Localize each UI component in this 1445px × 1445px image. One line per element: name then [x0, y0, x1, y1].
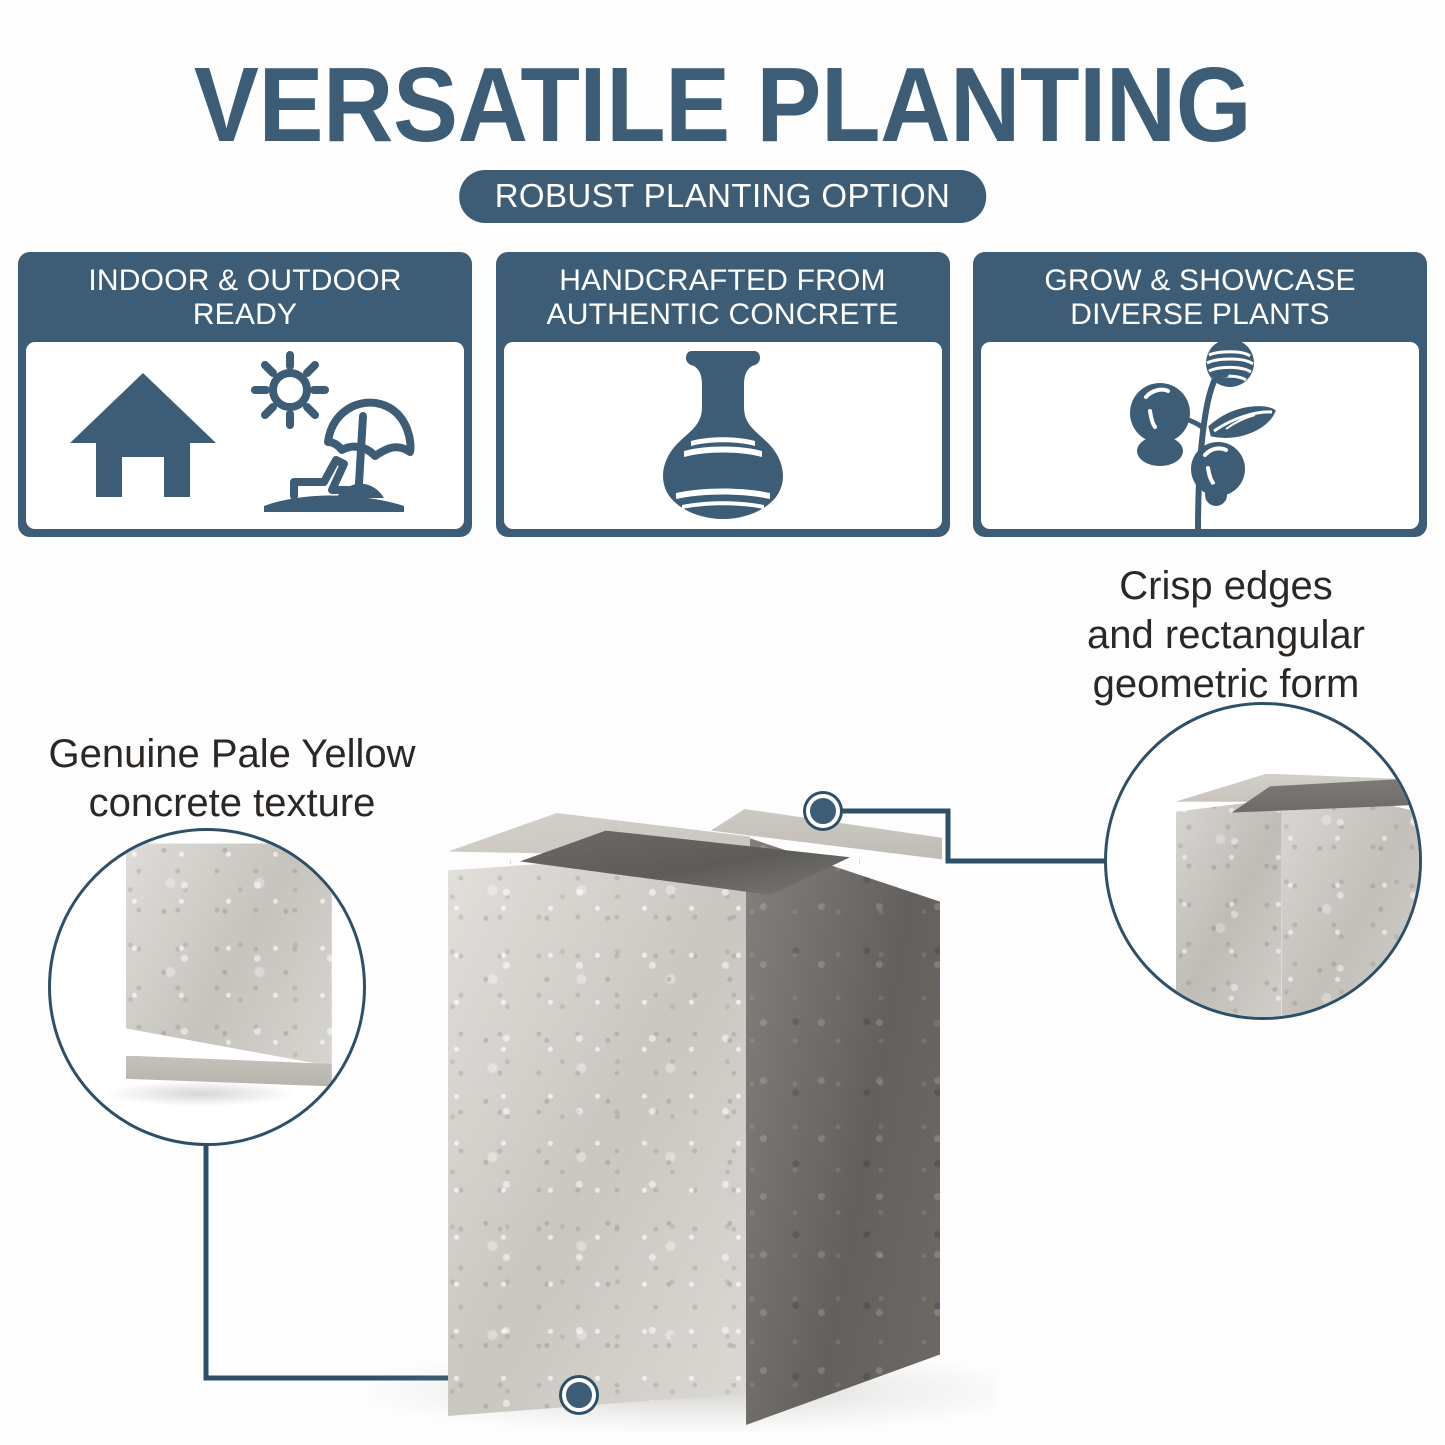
rim-right-face [1282, 780, 1422, 1017]
feature-card-header: GROW & SHOWCASE DIVERSE PLANTS [1036, 252, 1363, 342]
callout-label-crisp-edges: Crisp edges and rectangular geometric fo… [1020, 562, 1432, 708]
planter-side-face [746, 837, 940, 1425]
subtitle-badge: ROBUST PLANTING OPTION [459, 170, 987, 223]
rim-left-face [1176, 799, 1282, 1017]
concrete-surface-detail [126, 843, 332, 1080]
planter-front-face [448, 850, 748, 1416]
house-icon [68, 365, 218, 505]
feature-card-row: INDOOR & OUTDOOR READY [18, 252, 1427, 537]
detail-zoom-image [51, 831, 363, 1143]
base-shadow [107, 1081, 294, 1106]
hotspot-marker-bottom-edge[interactable] [562, 1378, 596, 1412]
feature-card-header: HANDCRAFTED FROM AUTHENTIC CONCRETE [539, 252, 907, 342]
vase-icon [648, 345, 798, 525]
detail-zoom-image [1107, 705, 1419, 1017]
hotspot-marker-top-edge[interactable] [806, 794, 840, 828]
feature-card-body [504, 342, 942, 529]
product-image-planter [360, 795, 1000, 1445]
feature-card-body [981, 342, 1419, 529]
berry-sprig-icon [1110, 342, 1290, 529]
feature-card-diverse-plants: GROW & SHOWCASE DIVERSE PLANTS [973, 252, 1427, 537]
detail-zoom-crisp-edges [1104, 702, 1422, 1020]
page-title: VERSATILE PLANTING [58, 52, 1387, 158]
infographic-canvas: VERSATILE PLANTING ROBUST PLANTING OPTIO… [0, 0, 1445, 1445]
feature-card-header: INDOOR & OUTDOOR READY [80, 252, 409, 342]
feature-card-indoor-outdoor: INDOOR & OUTDOOR READY [18, 252, 472, 537]
feature-card-body [26, 342, 464, 529]
feature-card-handcrafted-concrete: HANDCRAFTED FROM AUTHENTIC CONCRETE [496, 252, 950, 537]
detail-zoom-concrete-texture [48, 828, 366, 1146]
beach-umbrella-icon [232, 350, 422, 520]
